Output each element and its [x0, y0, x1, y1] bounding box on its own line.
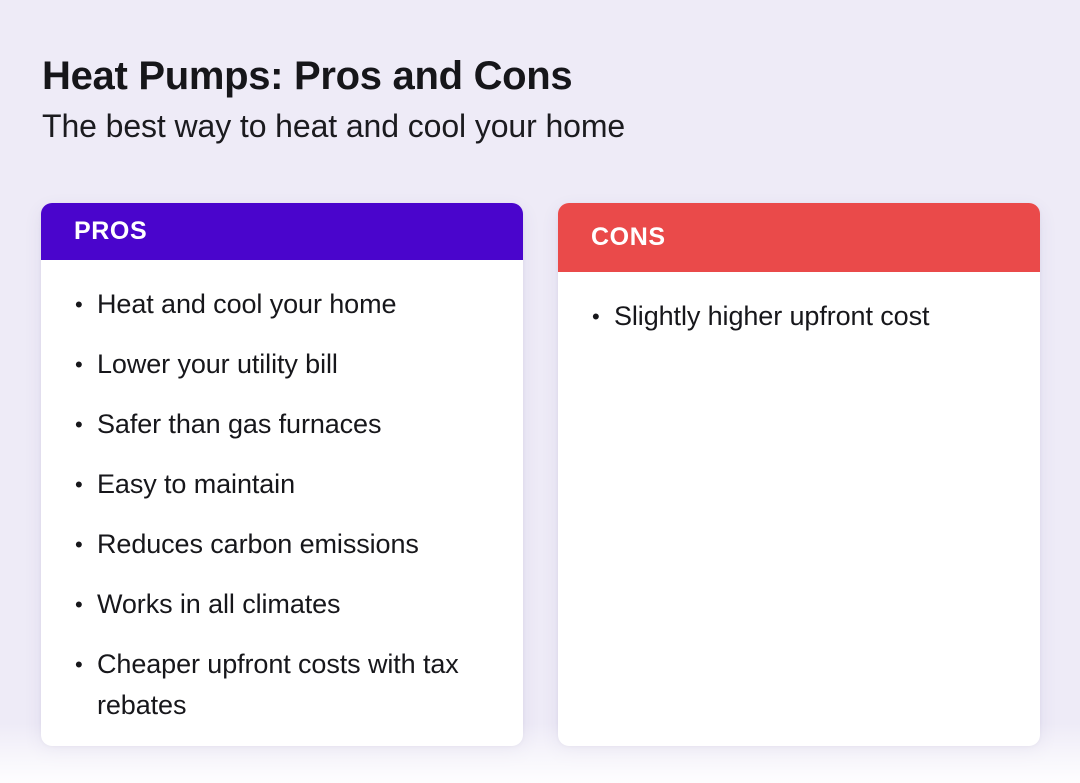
pros-list: Heat and cool your home Lower your utili…	[69, 284, 495, 726]
cons-card: CONS Slightly higher upfront cost	[558, 203, 1040, 746]
pros-card-body: Heat and cool your home Lower your utili…	[41, 260, 523, 746]
list-item: Safer than gas furnaces	[69, 404, 477, 445]
cons-card-header: CONS	[558, 203, 1040, 272]
list-item: Lower your utility bill	[69, 344, 477, 385]
cons-list: Slightly higher upfront cost	[586, 296, 1012, 337]
page-header: Heat Pumps: Pros and Cons The best way t…	[42, 52, 1032, 146]
comparison-cards: PROS Heat and cool your home Lower your …	[41, 203, 1040, 746]
page-subtitle: The best way to heat and cool your home	[42, 106, 1032, 146]
pros-card-header: PROS	[41, 203, 523, 260]
list-item: Heat and cool your home	[69, 284, 477, 325]
list-item: Reduces carbon emissions	[69, 524, 477, 565]
cons-card-header-label: CONS	[591, 225, 666, 250]
list-item: Cheaper upfront costs with tax rebates	[69, 644, 477, 726]
list-item: Slightly higher upfront cost	[586, 296, 994, 337]
pros-card-header-label: PROS	[74, 219, 147, 244]
list-item: Easy to maintain	[69, 464, 477, 505]
pros-card: PROS Heat and cool your home Lower your …	[41, 203, 523, 746]
page-title: Heat Pumps: Pros and Cons	[42, 52, 1032, 100]
list-item: Works in all climates	[69, 584, 477, 625]
cons-card-body: Slightly higher upfront cost	[558, 272, 1040, 746]
